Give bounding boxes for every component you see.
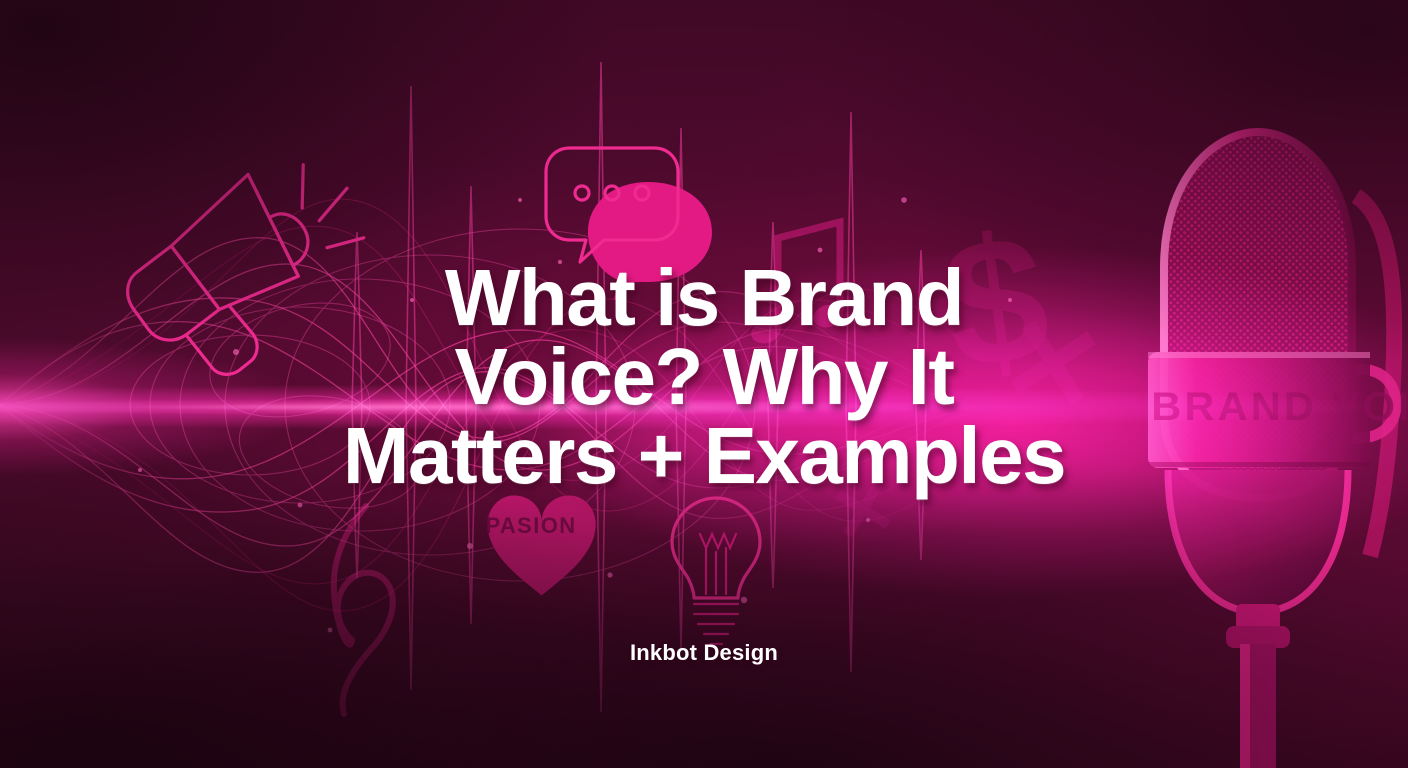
- banner-image: $ ✕ ✕: [0, 0, 1408, 768]
- mic-stand: [1168, 470, 1348, 768]
- treble-clef-icon: [334, 506, 393, 714]
- heart-icon: PASION: [485, 496, 595, 596]
- page-title: What is Brand Voice? Why It Matters + Ex…: [0, 258, 1408, 496]
- title-line-3: Matters + Examples: [0, 416, 1408, 495]
- speech-bubble-outline-icon: [546, 148, 678, 262]
- lightbulb-icon: [672, 498, 760, 644]
- heart-label: PASION: [485, 513, 576, 538]
- title-line-1: What is Brand: [0, 258, 1408, 337]
- title-line-2: Voice? Why It: [0, 337, 1408, 416]
- byline: Inkbot Design: [0, 640, 1408, 666]
